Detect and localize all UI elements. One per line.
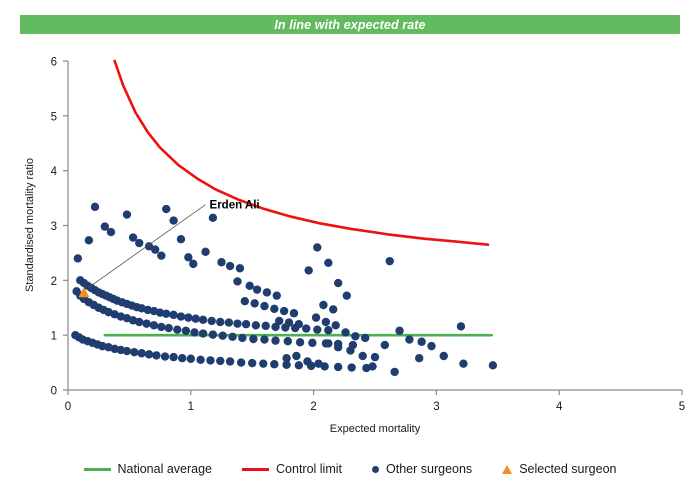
surgeon-data-point[interactable] — [371, 353, 379, 361]
axes: 0123450123456 — [51, 57, 686, 414]
surgeon-data-point[interactable] — [405, 335, 413, 343]
surgeon-data-point[interactable] — [260, 302, 268, 310]
surgeon-data-point[interactable] — [489, 361, 497, 369]
surgeon-data-point[interactable] — [304, 266, 312, 274]
surgeon-data-point[interactable] — [285, 318, 293, 326]
surgeon-data-point[interactable] — [324, 339, 332, 347]
x-axis-tick-label: 0 — [65, 401, 71, 413]
surgeon-data-point[interactable] — [135, 318, 143, 326]
surgeon-data-point[interactable] — [238, 334, 246, 342]
legend-triangle-marker-icon — [502, 465, 512, 474]
surgeon-data-point[interactable] — [284, 337, 292, 345]
surgeon-data-point[interactable] — [319, 301, 327, 309]
surgeon-data-point[interactable] — [201, 248, 209, 256]
legend-label: National average — [118, 462, 213, 476]
surgeon-data-point[interactable] — [123, 210, 131, 218]
surgeon-data-point[interactable] — [173, 325, 181, 333]
surgeon-data-point[interactable] — [417, 338, 425, 346]
surgeon-data-point[interactable] — [209, 214, 217, 222]
surgeon-data-point[interactable] — [250, 299, 258, 307]
surgeon-data-point[interactable] — [178, 354, 186, 362]
surgeon-data-point[interactable] — [395, 327, 403, 335]
legend-label: Selected surgeon — [519, 462, 616, 476]
surgeon-data-point[interactable] — [241, 297, 249, 305]
surgeon-data-point[interactable] — [252, 321, 260, 329]
y-axis-tick-label: 6 — [51, 57, 57, 69]
annotation-leader-line — [88, 205, 206, 288]
surgeon-data-point[interactable] — [233, 277, 241, 285]
surgeon-data-point[interactable] — [415, 354, 423, 362]
surgeon-data-point[interactable] — [107, 228, 115, 236]
surgeon-data-point[interactable] — [189, 260, 197, 268]
legend-label: Other surgeons — [386, 462, 472, 476]
x-axis-tick-label: 4 — [556, 401, 563, 413]
surgeon-data-point[interactable] — [275, 317, 283, 325]
surgeon-data-point[interactable] — [225, 318, 233, 326]
surgeon-data-point[interactable] — [130, 348, 138, 356]
surgeon-data-point[interactable] — [390, 368, 398, 376]
surgeon-data-point[interactable] — [303, 357, 311, 365]
surgeon-data-point[interactable] — [123, 347, 131, 355]
surgeon-data-point[interactable] — [157, 323, 165, 331]
surgeon-data-point[interactable] — [248, 359, 256, 367]
funnel-plot-chart: 0123450123456 Erden Ali Expected mortali… — [0, 0, 700, 500]
surgeon-data-point[interactable] — [161, 352, 169, 360]
surgeon-data-point[interactable] — [260, 335, 268, 343]
surgeon-data-point[interactable] — [85, 236, 93, 244]
surgeon-data-point[interactable] — [169, 216, 177, 224]
surgeon-data-point[interactable] — [332, 321, 340, 329]
surgeon-data-point[interactable] — [182, 327, 190, 335]
y-axis-tick-label: 1 — [51, 331, 57, 343]
surgeon-data-point[interactable] — [142, 319, 150, 327]
surgeon-data-point[interactable] — [137, 349, 145, 357]
surgeon-data-point[interactable] — [177, 312, 185, 320]
surgeon-data-point[interactable] — [459, 359, 467, 367]
surgeon-data-point[interactable] — [237, 358, 245, 366]
control-limit-line — [115, 61, 488, 245]
surgeon-data-point[interactable] — [324, 326, 332, 334]
surgeon-data-point[interactable] — [271, 336, 279, 344]
surgeon-data-point[interactable] — [290, 309, 298, 317]
surgeon-data-point[interactable] — [341, 328, 349, 336]
surgeon-data-point[interactable] — [253, 285, 261, 293]
surgeon-data-point[interactable] — [292, 352, 300, 360]
surgeon-data-point[interactable] — [334, 279, 342, 287]
legend-label: Control limit — [276, 462, 342, 476]
surgeon-data-point[interactable] — [219, 332, 227, 340]
surgeon-data-point[interactable] — [199, 329, 207, 337]
surgeon-data-point[interactable] — [295, 320, 303, 328]
surgeon-data-point[interactable] — [169, 353, 177, 361]
selected-surgeon-label: Erden Ali — [210, 200, 260, 212]
surgeon-data-point[interactable] — [233, 319, 241, 327]
surgeon-data-point[interactable] — [329, 305, 337, 313]
surgeon-data-point[interactable] — [226, 357, 234, 365]
legend-item-1[interactable]: Control limit — [242, 462, 342, 476]
y-axis-title: Standardised mortality ratio — [24, 158, 36, 292]
surgeon-data-point[interactable] — [216, 318, 224, 326]
chart-legend: National averageControl limitOther surge… — [0, 458, 700, 480]
surgeon-data-point[interactable] — [282, 354, 290, 362]
surgeon-data-point[interactable] — [209, 330, 217, 338]
surgeon-data-point[interactable] — [192, 315, 200, 323]
surgeon-data-point[interactable] — [145, 350, 153, 358]
data-series — [71, 61, 497, 376]
surgeon-data-point[interactable] — [270, 360, 278, 368]
surgeon-data-point[interactable] — [359, 352, 367, 360]
legend-item-0[interactable]: National average — [84, 462, 213, 476]
surgeon-data-point[interactable] — [262, 322, 270, 330]
surgeon-data-point[interactable] — [259, 359, 267, 367]
surgeon-data-point[interactable] — [246, 282, 254, 290]
legend-line-swatch-icon — [242, 468, 269, 471]
surgeon-data-point[interactable] — [91, 203, 99, 211]
surgeon-data-point[interactable] — [190, 328, 198, 336]
surgeon-data-point[interactable] — [270, 305, 278, 313]
surgeon-data-point[interactable] — [296, 338, 304, 346]
surgeon-data-point[interactable] — [228, 333, 236, 341]
surgeon-data-point[interactable] — [347, 363, 355, 371]
surgeon-data-point[interactable] — [249, 335, 257, 343]
surgeon-data-point[interactable] — [313, 243, 321, 251]
surgeon-data-point[interactable] — [169, 311, 177, 319]
surgeon-data-point[interactable] — [324, 259, 332, 267]
surgeon-data-point[interactable] — [150, 321, 158, 329]
surgeon-data-point[interactable] — [334, 343, 342, 351]
x-axis-tick-label: 3 — [433, 401, 439, 413]
x-axis-tick-label: 2 — [310, 401, 316, 413]
surgeon-data-point[interactable] — [242, 320, 250, 328]
surgeon-data-point[interactable] — [314, 359, 322, 367]
legend-dot-marker-icon — [372, 466, 379, 473]
legend-item-2[interactable]: Other surgeons — [372, 462, 472, 476]
surgeon-data-point[interactable] — [312, 313, 320, 321]
legend-line-swatch-icon — [84, 468, 111, 471]
legend-item-3[interactable]: Selected surgeon — [502, 462, 616, 476]
surgeon-data-point[interactable] — [346, 346, 354, 354]
surgeon-data-point[interactable] — [226, 262, 234, 270]
y-axis-tick-label: 2 — [51, 276, 57, 288]
x-axis-tick-label: 5 — [679, 401, 685, 413]
x-axis-tick-label: 1 — [188, 401, 194, 413]
surgeon-data-point[interactable] — [381, 341, 389, 349]
surgeon-data-point[interactable] — [302, 324, 310, 332]
surgeon-data-point[interactable] — [386, 257, 394, 265]
y-axis-tick-label: 4 — [51, 166, 58, 178]
surgeon-data-point[interactable] — [196, 356, 204, 364]
y-axis-tick-label: 0 — [51, 386, 57, 398]
surgeon-data-point[interactable] — [187, 355, 195, 363]
surgeon-data-point[interactable] — [207, 317, 215, 325]
surgeon-data-point[interactable] — [343, 291, 351, 299]
surgeon-data-point[interactable] — [236, 264, 244, 272]
surgeon-data-point[interactable] — [74, 254, 82, 262]
surgeon-data-point[interactable] — [295, 361, 303, 369]
surgeon-data-point[interactable] — [440, 352, 448, 360]
surgeon-data-point[interactable] — [151, 245, 159, 253]
surgeon-data-point[interactable] — [457, 322, 465, 330]
surgeon-data-point[interactable] — [162, 310, 170, 318]
surgeon-data-point[interactable] — [308, 339, 316, 347]
surgeon-data-point[interactable] — [334, 363, 342, 371]
y-axis-tick-label: 5 — [51, 111, 57, 123]
surgeon-data-point[interactable] — [206, 356, 214, 364]
surgeon-data-point[interactable] — [361, 334, 369, 342]
surgeon-data-point[interactable] — [280, 307, 288, 315]
y-axis-tick-label: 3 — [51, 221, 57, 233]
surgeon-data-point[interactable] — [199, 316, 207, 324]
surgeon-data-point[interactable] — [216, 357, 224, 365]
surgeon-data-point[interactable] — [263, 288, 271, 296]
surgeon-data-point[interactable] — [368, 362, 376, 370]
surgeon-data-point[interactable] — [322, 318, 330, 326]
surgeon-data-point[interactable] — [157, 251, 165, 259]
surgeon-data-point[interactable] — [217, 258, 225, 266]
surgeon-data-point[interactable] — [427, 342, 435, 350]
surgeon-data-point[interactable] — [164, 324, 172, 332]
surgeon-data-point[interactable] — [351, 332, 359, 340]
surgeon-data-point[interactable] — [273, 291, 281, 299]
x-axis-title: Expected mortality — [330, 423, 421, 435]
surgeon-data-point[interactable] — [162, 205, 170, 213]
surgeon-data-point[interactable] — [184, 313, 192, 321]
surgeon-data-point[interactable] — [152, 351, 160, 359]
surgeon-data-point[interactable] — [177, 235, 185, 243]
annotation-group: Erden Ali — [88, 200, 260, 288]
surgeon-data-point[interactable] — [135, 239, 143, 247]
surgeon-data-point[interactable] — [313, 325, 321, 333]
